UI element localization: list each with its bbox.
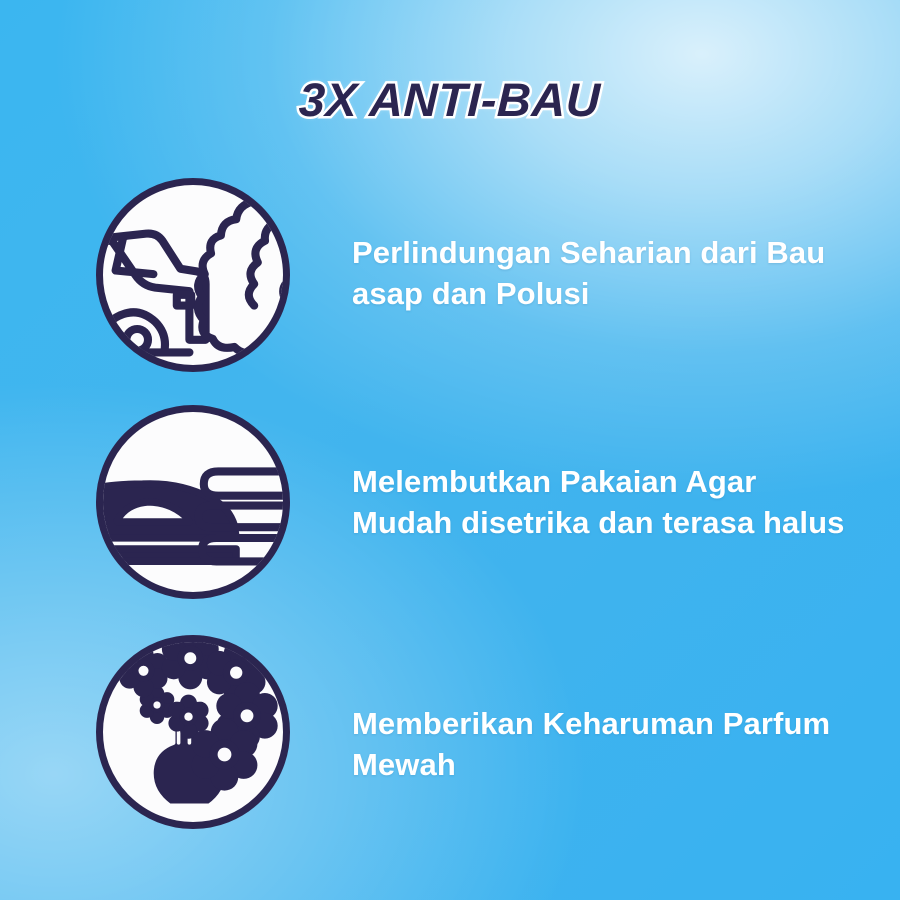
promo-poster: 3X ANTI-BAU (0, 0, 900, 900)
benefit-text: Memberikan Keharuman Parfum Mewah (352, 704, 852, 786)
benefit-row: Perlindungan Seharian dari Bau asap dan … (96, 178, 856, 372)
perfume-bottle-flowers-icon (96, 635, 290, 829)
page-title: 3X ANTI-BAU (298, 72, 601, 127)
benefit-text: Perlindungan Seharian dari Bau asap dan … (352, 233, 852, 315)
car-exhaust-smoke-icon (96, 178, 290, 372)
benefit-row: Memberikan Keharuman Parfum Mewah (96, 633, 856, 831)
benefit-row: Melembutkan Pakaian Agar Mudah disetrika… (96, 403, 856, 601)
page-title-container: 3X ANTI-BAU (0, 72, 900, 127)
benefit-text: Melembutkan Pakaian Agar Mudah disetrika… (352, 462, 852, 544)
iron-folded-clothes-icon (96, 405, 290, 599)
